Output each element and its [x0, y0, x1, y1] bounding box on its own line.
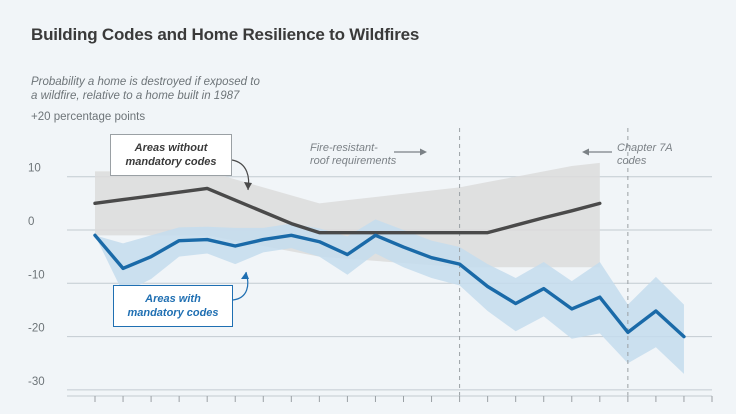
confidence-bands: [95, 163, 684, 374]
y-tick-label: 0: [28, 216, 34, 228]
y-tick-label: -20: [28, 323, 45, 335]
y-tick-label: -10: [28, 269, 45, 281]
label-fire-line1: Fire-resistant-: [310, 142, 378, 154]
arrowhead-fire-resistant: [420, 149, 427, 156]
arrowhead-chapter-7a: [582, 149, 589, 156]
y-axis-tick-labels: 100-10-20-30: [28, 163, 45, 388]
label-chapter-line2: codes: [617, 155, 646, 167]
label-chapter-line1: Chapter 7A: [617, 142, 673, 154]
arrowhead-with-codes: [241, 272, 249, 279]
x-axis-ticks: [67, 396, 712, 402]
y-tick-label: -30: [28, 376, 45, 388]
annotation-without-line1: Areas without: [135, 142, 208, 154]
chart-canvas: 100-10-20-30: [0, 0, 736, 414]
annotation-areas-with-codes: Areas with mandatory codes: [113, 285, 233, 327]
label-chapter-7a-codes: Chapter 7A codes: [617, 142, 707, 168]
annotation-areas-without-codes: Areas without mandatory codes: [110, 134, 232, 176]
annotation-without-line2: mandatory codes: [125, 156, 216, 168]
annotation-with-line1: Areas with: [145, 293, 201, 305]
label-fire-line2: roof requirements: [310, 155, 396, 167]
y-tick-label: 10: [28, 163, 41, 175]
annotation-with-line2: mandatory codes: [127, 307, 218, 319]
label-fire-resistant-roof: Fire-resistant- roof requirements: [310, 142, 415, 168]
